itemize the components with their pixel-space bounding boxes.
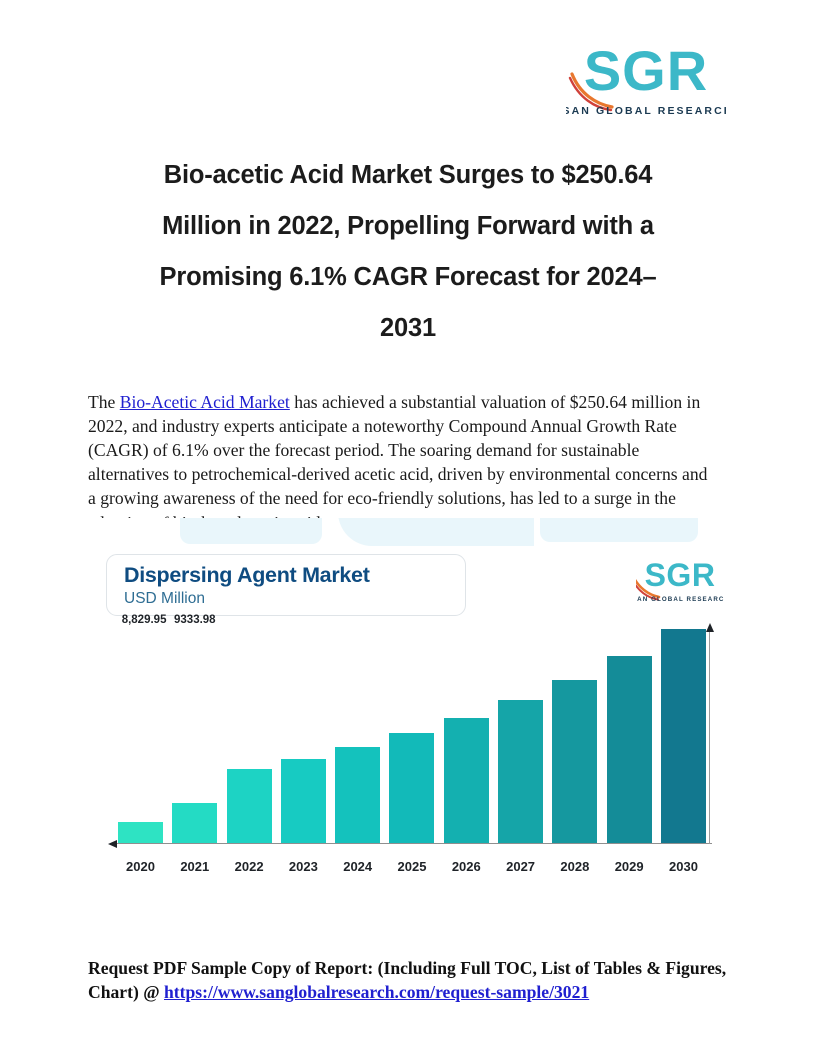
x-axis-line bbox=[112, 843, 712, 844]
bar-series: 8,829.959333.98 bbox=[118, 628, 706, 843]
x-tick-2022: 2022 bbox=[227, 859, 272, 874]
svg-text:SGR: SGR bbox=[645, 557, 716, 593]
intro-text-before: The bbox=[88, 392, 120, 412]
decorative-shape-1 bbox=[180, 518, 322, 544]
x-tick-2029: 2029 bbox=[607, 859, 652, 874]
x-tick-2028: 2028 bbox=[552, 859, 597, 874]
title-line-1: Bio-acetic Acid Market Surges to $250.64 bbox=[108, 150, 708, 201]
chart-plot-area: 8,829.959333.98 202020212022202320242025… bbox=[102, 628, 714, 880]
x-tick-2026: 2026 bbox=[444, 859, 489, 874]
bar-slot: 9333.98 bbox=[172, 628, 217, 843]
chart-header-card: Dispersing Agent Market USD Million bbox=[106, 554, 466, 616]
bar-2022 bbox=[227, 769, 272, 843]
x-tick-2020: 2020 bbox=[118, 859, 163, 874]
bar-2021: 9333.98 bbox=[172, 803, 217, 843]
page-title: Bio-acetic Acid Market Surges to $250.64… bbox=[108, 150, 708, 354]
title-line-4: 2031 bbox=[108, 303, 708, 354]
title-line-3: Promising 6.1% CAGR Forecast for 2024– bbox=[108, 252, 708, 303]
sgr-logo-header: SGR SAN GLOBAL RESEARCH bbox=[566, 38, 726, 120]
x-axis-tick-labels: 2020202120222023202420252026202720282029… bbox=[118, 859, 706, 874]
request-sample-link[interactable]: https://www.sanglobalresearch.com/reques… bbox=[164, 982, 589, 1002]
x-tick-2023: 2023 bbox=[281, 859, 326, 874]
chart-image: Dispersing Agent Market USD Million SGR … bbox=[88, 518, 724, 918]
bar-2024 bbox=[335, 747, 380, 843]
bar-slot: 8,829.95 bbox=[118, 628, 163, 843]
bar-2025 bbox=[389, 733, 434, 843]
bar-slot bbox=[661, 628, 706, 843]
y-axis-arrow-icon bbox=[706, 623, 714, 632]
x-tick-2030: 2030 bbox=[661, 859, 706, 874]
x-axis-arrow-icon bbox=[108, 840, 117, 848]
bar-slot bbox=[335, 628, 380, 843]
bar-2028 bbox=[552, 680, 597, 843]
bar-2020: 8,829.95 bbox=[118, 822, 163, 843]
chart-title: Dispersing Agent Market bbox=[124, 563, 465, 588]
bar-2030 bbox=[661, 629, 706, 843]
bar-value-label-2021: 9333.98 bbox=[174, 614, 216, 626]
x-tick-2025: 2025 bbox=[389, 859, 434, 874]
intro-paragraph: The Bio-Acetic Acid Market has achieved … bbox=[88, 390, 716, 535]
svg-text:SAN GLOBAL RESEARCH: SAN GLOBAL RESEARCH bbox=[566, 105, 726, 117]
x-tick-2021: 2021 bbox=[172, 859, 217, 874]
sgr-logo-chart: SGR SAN GLOBAL RESEARCH bbox=[636, 556, 724, 606]
bar-slot bbox=[227, 628, 272, 843]
bar-slot bbox=[389, 628, 434, 843]
bar-slot bbox=[498, 628, 543, 843]
bar-slot bbox=[281, 628, 326, 843]
y-axis-line bbox=[709, 628, 710, 844]
request-sample-footer: Request PDF Sample Copy of Report: (Incl… bbox=[88, 956, 728, 1005]
intro-text-after: has achieved a substantial valuation of … bbox=[88, 392, 707, 533]
bar-2023 bbox=[281, 759, 326, 843]
bio-acetic-acid-market-link[interactable]: Bio-Acetic Acid Market bbox=[120, 392, 290, 412]
bar-slot bbox=[444, 628, 489, 843]
svg-text:SGR: SGR bbox=[584, 39, 708, 102]
chart-subtitle: USD Million bbox=[124, 589, 465, 609]
bar-value-label-2020: 8,829.95 bbox=[122, 614, 167, 626]
bar-slot bbox=[552, 628, 597, 843]
title-line-2: Million in 2022, Propelling Forward with… bbox=[108, 201, 708, 252]
bar-2026 bbox=[444, 718, 489, 843]
sgr-logo-icon: SGR SAN GLOBAL RESEARCH bbox=[566, 38, 726, 120]
bar-slot bbox=[607, 628, 652, 843]
document-page: SGR SAN GLOBAL RESEARCH Bio-acetic Acid … bbox=[0, 0, 816, 1056]
x-tick-2027: 2027 bbox=[498, 859, 543, 874]
decorative-shape-3 bbox=[540, 518, 698, 542]
svg-text:SAN GLOBAL RESEARCH: SAN GLOBAL RESEARCH bbox=[636, 596, 724, 603]
x-tick-2024: 2024 bbox=[335, 859, 380, 874]
sgr-logo-icon-small: SGR SAN GLOBAL RESEARCH bbox=[636, 556, 724, 606]
decorative-shape-2 bbox=[338, 518, 534, 546]
bar-2027 bbox=[498, 700, 543, 843]
bar-2029 bbox=[607, 656, 652, 843]
